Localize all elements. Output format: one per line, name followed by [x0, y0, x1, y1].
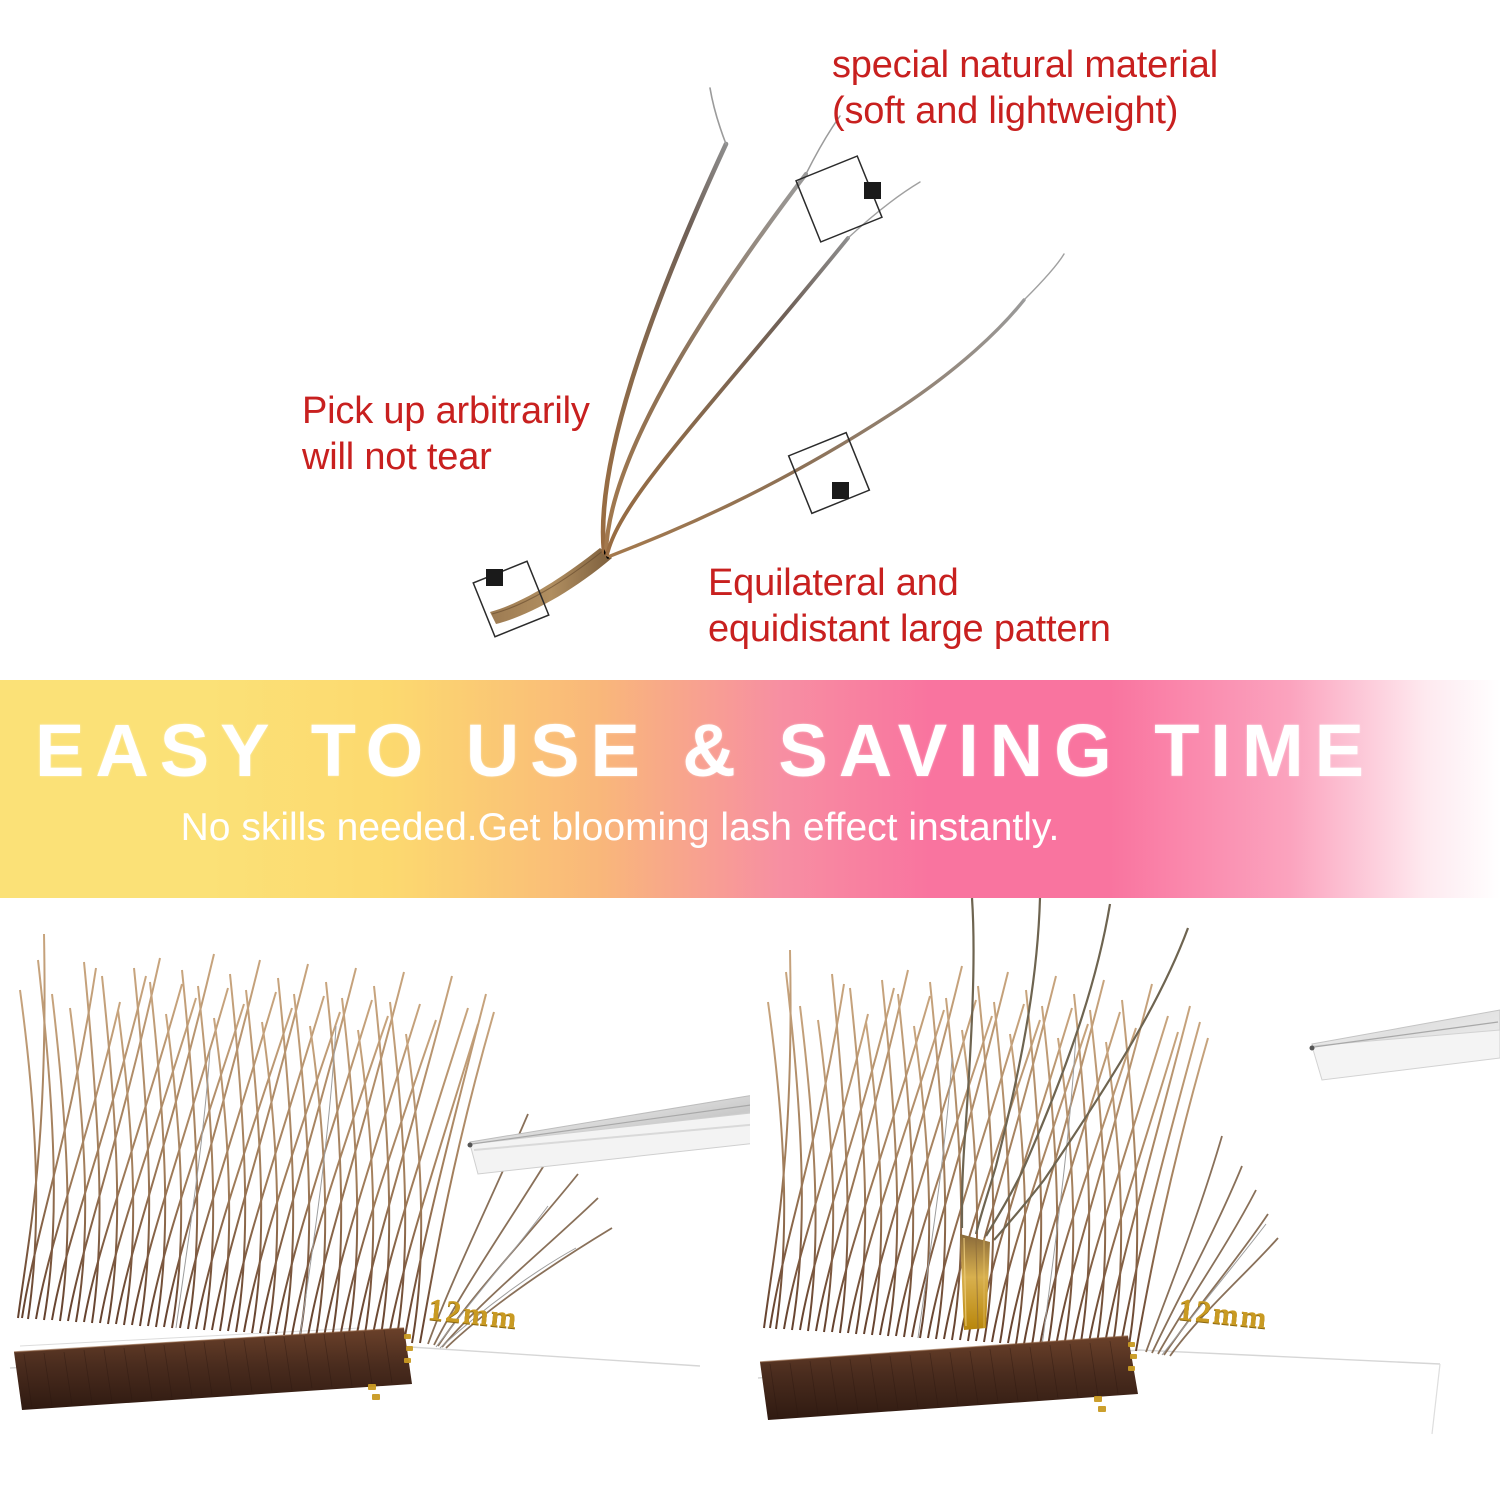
banner-headline: EASY TO USE & SAVING TIME: [0, 714, 1410, 788]
banner-subhead: No skills needed.Get blooming lash effec…: [0, 808, 1240, 847]
photo-right-illustration: [750, 898, 1500, 1500]
callout-equilateral-equidistant: Equilateral and equidistant large patter…: [708, 560, 1111, 653]
callout-pick-up-arbitrarily: Pick up arbitrarily will not tear: [302, 388, 590, 481]
product-photos-section: [0, 898, 1500, 1500]
tweezers: [1310, 1010, 1500, 1080]
tweezers: [468, 1094, 751, 1174]
diagram-section: special natural material (soft and light…: [0, 0, 1500, 680]
callout-special-natural-material: special natural material (soft and light…: [832, 42, 1218, 135]
photo-lash-tray-with-tweezers: [0, 898, 750, 1500]
promo-banner: EASY TO USE & SAVING TIME No skills need…: [0, 680, 1500, 898]
marker-middle-right: [789, 433, 870, 514]
fan-base: [490, 548, 612, 624]
photo-lash-fan-lifted: [750, 898, 1500, 1500]
photo-left-illustration: [0, 898, 750, 1500]
